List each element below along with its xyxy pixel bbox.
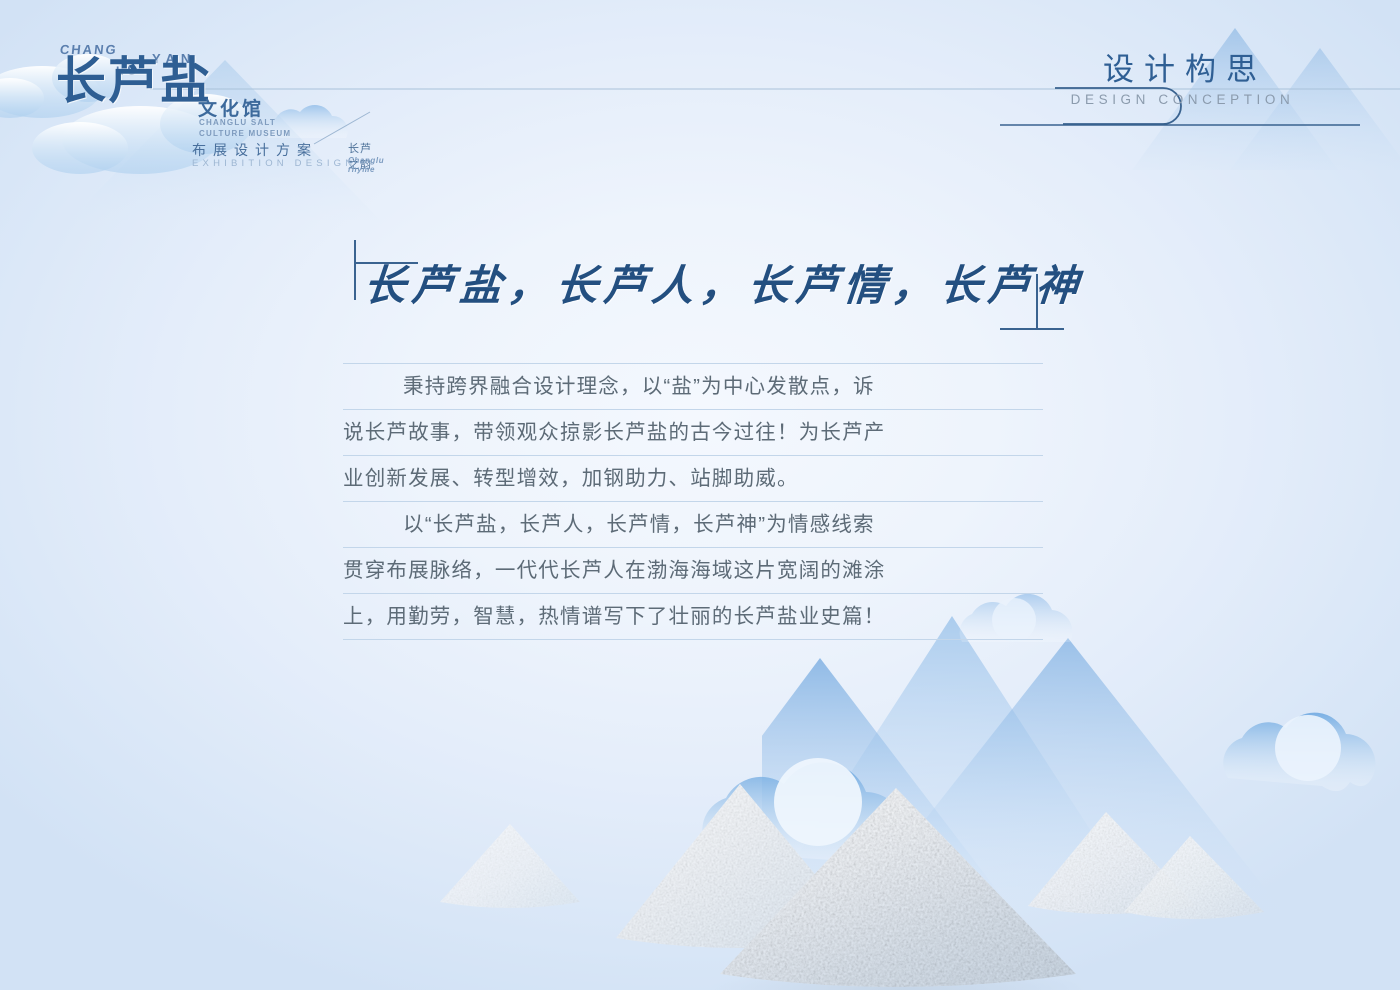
section-heading-en: DESIGN CONCEPTION <box>1030 92 1330 107</box>
concept-text-block: 秉持跨界融合设计理念，以“盐”为中心发散点，诉 说长芦故事，带领观众掠影长芦盐的… <box>343 363 1043 640</box>
cloud-right <box>1210 700 1400 810</box>
brand-logo[interactable]: CHANG LU YAN 长芦盐 文化馆 CHANGLU SALT CULTUR… <box>56 30 376 150</box>
logo-brand-name: 长芦盐 <box>56 56 212 106</box>
logo-plan-label: 布展设计方案 <box>192 140 318 160</box>
text-line: 说长芦故事，带领观众掠影长芦盐的古今过往！为长芦产 <box>343 409 1043 455</box>
text-line: 上，用勤劳，智慧，热情谱写下了壮丽的长芦盐业史篇！ <box>343 593 1043 640</box>
page-header: CHANG LU YAN 长芦盐 文化馆 CHANGLU SALT CULTUR… <box>0 0 1400 160</box>
logo-museum-name: 文化馆 <box>198 94 264 121</box>
logo-plan-label-en: EXHIBITION DESIGN <box>192 158 356 169</box>
text-line: 贯穿布展脉络，一代代长芦人在渤海海域这片宽阔的滩涂 <box>343 547 1043 593</box>
title-bracket-top-left-vertical <box>354 240 356 300</box>
main-title: 长芦盐，长芦人，长芦情，长芦神 <box>361 252 1086 313</box>
salt-mound-left <box>600 772 900 972</box>
text-line: 业创新发展、转型增效，加钢助力、站脚助威。 <box>343 455 1043 501</box>
text-line: 秉持跨界融合设计理念，以“盐”为中心发散点，诉 <box>343 363 1043 409</box>
logo-museum-name-en: CHANGLU SALT CULTURE MUSEUM <box>199 118 291 140</box>
salt-mound-far-left <box>430 808 590 918</box>
title-bracket-bottom-right-horizontal <box>1000 328 1064 330</box>
section-heading: 设计构思 DESIGN CONCEPTION <box>1030 52 1330 107</box>
poster-canvas: CHANG LU YAN 长芦盐 文化馆 CHANGLU SALT CULTUR… <box>0 0 1400 990</box>
salt-mound-far-right <box>1118 824 1288 934</box>
section-heading-cn: 设计构思 <box>1030 52 1330 88</box>
main-title-block: 长芦盐，长芦人，长芦情，长芦神 <box>348 240 1048 335</box>
mountain-bottom-right-group <box>762 610 1282 930</box>
logo-rhyme-label-en: Changlu rhyme <box>348 156 384 174</box>
salt-mound-right <box>1020 802 1230 932</box>
cloud-center <box>690 740 990 890</box>
salt-mound-main <box>690 778 1110 990</box>
text-line: 以“长芦盐，长芦人，长芦情，长芦神”为情感线索 <box>343 501 1043 547</box>
